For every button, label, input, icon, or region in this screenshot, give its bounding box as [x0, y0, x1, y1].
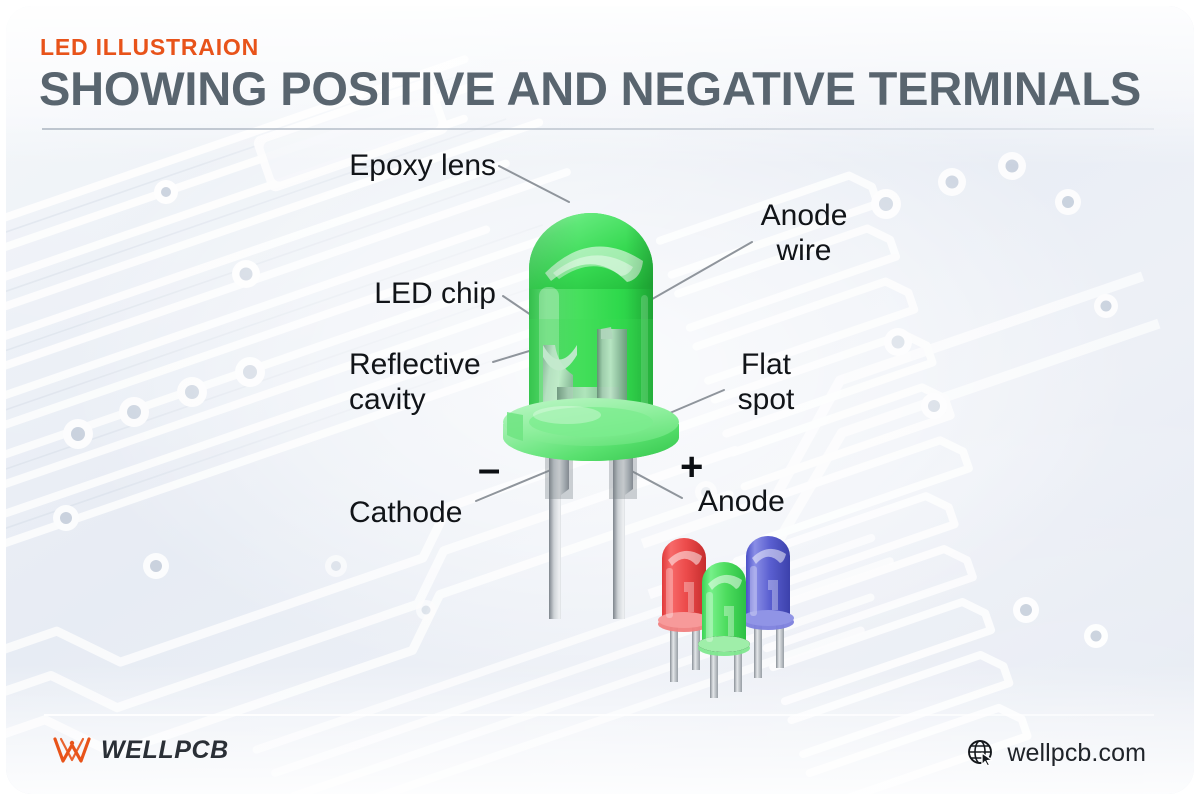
- footer-divider: [44, 714, 1154, 716]
- infographic-canvas: LED ILLUSTRAION SHOWING POSITIVE AND NEG…: [0, 0, 1200, 800]
- callout-anode-wire: Anode wire: [736, 198, 872, 268]
- mini-green-led: [698, 562, 750, 698]
- callout-anode: Anode: [698, 484, 878, 519]
- mini-rgb-led-cluster: [654, 530, 804, 700]
- infographic-card: LED ILLUSTRAION SHOWING POSITIVE AND NEG…: [6, 6, 1194, 794]
- callout-led-chip: LED chip: [281, 276, 496, 311]
- callout-flat-spot: Flat spot: [708, 347, 824, 417]
- kicker-text: LED ILLUSTRAION: [40, 36, 1158, 59]
- header-divider: [42, 128, 1154, 130]
- page-title: SHOWING POSITIVE AND NEGATIVE TERMINALS: [39, 65, 1158, 113]
- mini-blue-led: [742, 536, 794, 678]
- negative-terminal-sign: –: [478, 449, 500, 489]
- brand-logo[interactable]: WELLPCB: [52, 734, 229, 766]
- website-link[interactable]: wellpcb.com: [966, 738, 1146, 768]
- led-flange-base: [503, 398, 679, 461]
- callout-epoxy-lens: Epoxy lens: [281, 148, 496, 183]
- wellpcb-mark-icon: [52, 734, 92, 766]
- globe-icon: [966, 738, 996, 768]
- website-url: wellpcb.com: [1007, 739, 1146, 768]
- brand-name: WELLPCB: [101, 736, 229, 765]
- header: LED ILLUSTRAION SHOWING POSITIVE AND NEG…: [38, 36, 1158, 113]
